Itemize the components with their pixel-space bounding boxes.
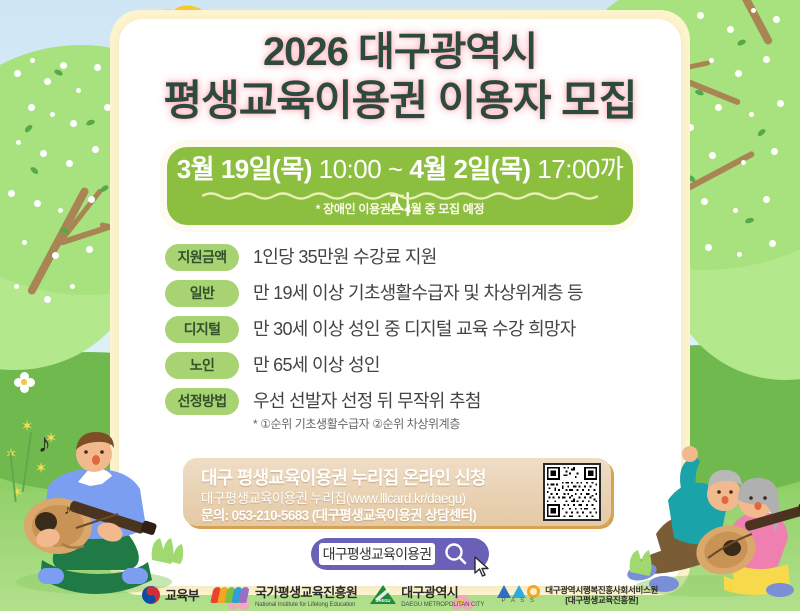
search-input[interactable]: 대구평생교육이용권 (319, 543, 435, 565)
page-title: 2026 대구광역시 평생교육이용권 이용자 모집 (119, 28, 681, 126)
logo-nile: 국가평생교육진흥원 National Institute for Lifelon… (212, 582, 357, 608)
row-label-badge: 노인 (165, 352, 239, 379)
logo-nile-label: 국가평생교육진흥원 (255, 585, 357, 600)
info-row: 지원금액 1인당 35만원 수강료 지원 (165, 244, 635, 271)
row-text: 1인당 35만원 수강료 지원 (253, 245, 437, 270)
logo-daegu-sub: DAEGU METROPOLITAN CITY (401, 602, 484, 608)
poster-canvas: ✶ ✶ ✶ ✶ ✶ ♪ ♪ (0, 0, 800, 611)
footer-logos: 교육부 국가평생교육진흥원 National Institute for Lif… (0, 578, 800, 611)
row-text: 만 30세 이상 성인 중 디지털 교육 수강 희망자 (253, 317, 576, 342)
row-label-badge: 일반 (165, 280, 239, 307)
info-row: 노인 만 65세 이상 성인 (165, 352, 635, 379)
row-note: * ①순위 기초생활수급자 ②순위 차상위계층 (253, 415, 481, 433)
row-text: 만 19세 이상 기초생활수급자 및 차상위계층 등 (253, 281, 583, 306)
logo-daegu-label: 대구광역시 (401, 585, 458, 600)
date-end: 4월 2일(목) (409, 154, 537, 184)
illustration-man-playing-guitar: ♪ (2, 432, 187, 597)
logo-pass: P A S S 대구광역시행복진흥사회서비스원 [대구평생교육진흥원] (497, 585, 658, 605)
info-row: 디지털 만 30세 이상 성인 중 디지털 교육 수강 희망자 (165, 316, 635, 343)
title-line-1: 2026 대구광역시 (119, 28, 681, 76)
title-line-2: 평생교육이용권 이용자 모집 (119, 76, 681, 126)
daegu-mark-icon: DAEGU (370, 585, 396, 604)
date-start: 3월 19일(목) (177, 154, 319, 184)
info-row: 선정방법 우선 선발자 선정 뒤 무작위 추첨 * ①순위 기초생활수급자 ②순… (165, 388, 635, 433)
taeguk-icon (142, 586, 160, 604)
contact-box: 대구 평생교육이용권 누리집 온라인 신청 대구평생교육이용권 누리집(www.… (183, 458, 611, 526)
contact-phone: 문의: 053-210-5683 (대구평생교육이용권 상담센터) (201, 504, 476, 524)
logo-moe: 교육부 (142, 585, 199, 604)
pass-mark-icon (497, 585, 540, 598)
search-icon[interactable] (443, 541, 469, 567)
info-row: 일반 만 19세 이상 기초생활수급자 및 차상위계층 등 (165, 280, 635, 307)
row-text: 만 65세 이상 성인 (253, 353, 380, 378)
date-banner: 3월 19일(목) 10:00 ~ 4월 2일(목) 17:00까지 * 장애인… (167, 147, 633, 225)
mouse-cursor-icon (474, 556, 492, 578)
illustration-elderly-couple (620, 438, 800, 598)
logo-moe-label: 교육부 (165, 585, 199, 604)
qr-code[interactable] (543, 463, 601, 521)
daegu-mark-text: DAEGU (376, 598, 391, 603)
logo-daegu: DAEGU 대구광역시 DAEGU METROPOLITAN CITY (370, 582, 484, 608)
nile-mark-icon (212, 587, 250, 603)
logo-nile-sub: National Institute for Lifelong Educatio… (255, 602, 357, 608)
date-start-time: 10:00 (319, 154, 382, 184)
row-label-badge: 지원금액 (165, 244, 239, 271)
row-label-badge: 선정방법 (165, 388, 239, 415)
row-text: 우선 선발자 선정 뒤 무작위 추첨 (253, 389, 481, 414)
info-rows: 지원금액 1인당 35만원 수강료 지원 일반 만 19세 이상 기초생활수급자… (165, 244, 635, 442)
row-label-badge: 디지털 (165, 316, 239, 343)
date-separator: ~ (381, 154, 409, 184)
svg-text:♪: ♪ (64, 501, 71, 517)
logo-pass-org: 대구광역시행복진흥사회서비스원 (545, 585, 658, 595)
logo-pass-label: P A S S (497, 598, 540, 604)
logo-pass-org-sub: [대구평생교육진흥원] (545, 595, 658, 605)
date-banner-note: * 장애인 이용권은 4월 중 모집 예정 (167, 199, 633, 219)
